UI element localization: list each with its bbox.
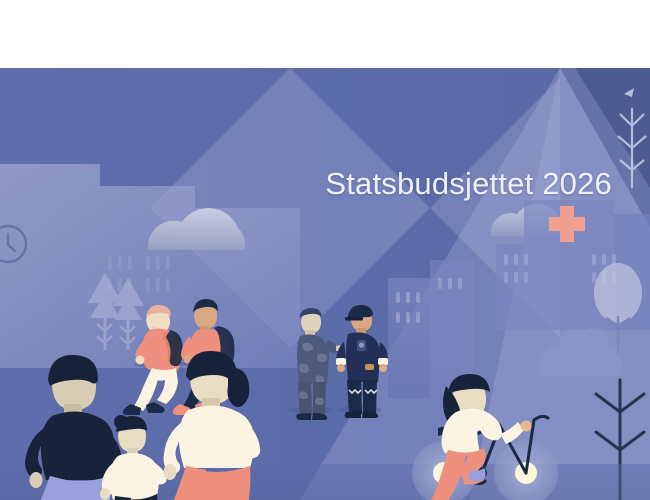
white-header-band	[0, 0, 650, 68]
city-illustration-svg	[0, 68, 650, 500]
hero-illustration: Statsbudsjettet 2026	[0, 68, 650, 500]
page-root: Statsbudsjettet 2026	[0, 0, 650, 500]
